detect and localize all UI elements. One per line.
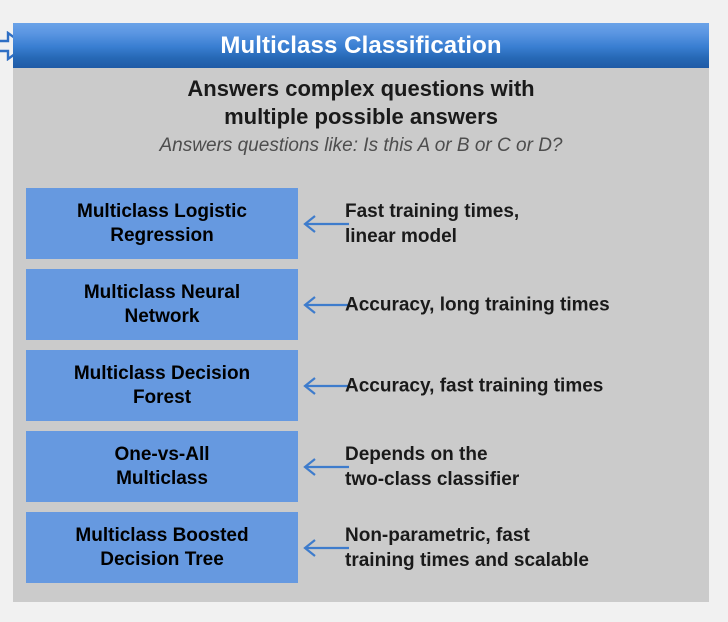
description-line-1: Fast training times, xyxy=(345,201,519,222)
algorithm-box-multiclass-decision-forest[interactable]: Multiclass Decision Forest xyxy=(26,350,298,421)
algorithm-rows: Multiclass Logistic Regression Fast trai… xyxy=(13,188,709,593)
algorithm-description: Fast training times, linear model xyxy=(345,199,701,249)
card-header: Multiclass Classification xyxy=(13,23,709,68)
headline-subtitle: Answers questions like: Is this A or B o… xyxy=(13,134,709,158)
description-line-1: Accuracy, long training times xyxy=(345,294,610,315)
description-line-2: linear model xyxy=(345,226,457,247)
algorithm-name-line-1: Multiclass Decision xyxy=(74,363,250,384)
algorithm-name-line-1: Multiclass Logistic xyxy=(77,201,247,222)
algorithm-name-line-2: Regression xyxy=(110,225,213,246)
algorithm-description: Non-parametric, fast training times and … xyxy=(345,523,701,573)
algorithm-description: Accuracy, fast training times xyxy=(345,373,701,398)
algorithm-name-line-2: Forest xyxy=(133,387,191,408)
page-title: Multiclass Classification xyxy=(220,32,501,60)
algorithm-name-line-2: Decision Tree xyxy=(100,549,224,570)
description-line-1: Accuracy, fast training times xyxy=(345,375,603,396)
algorithm-description: Accuracy, long training times xyxy=(345,292,701,317)
multiclass-classification-card: Multiclass Classification Answers comple… xyxy=(13,23,709,602)
algorithm-row: Multiclass Logistic Regression Fast trai… xyxy=(13,188,709,259)
algorithm-row: Multiclass Neural Network Accuracy, long… xyxy=(13,269,709,340)
headline-line-2: multiple possible answers xyxy=(13,103,709,131)
algorithm-row: Multiclass Boosted Decision Tree Non-par… xyxy=(13,512,709,583)
algorithm-name-line-2: Multiclass xyxy=(116,468,208,489)
arrow-left-icon xyxy=(300,295,350,315)
algorithm-name-line-1: One-vs-All xyxy=(114,444,209,465)
algorithm-name-line-1: Multiclass Neural xyxy=(84,282,240,303)
headline-line-1: Answers complex questions with xyxy=(13,75,709,103)
algorithm-box-one-vs-all-multiclass[interactable]: One-vs-All Multiclass xyxy=(26,431,298,502)
arrow-left-icon xyxy=(300,538,350,558)
algorithm-box-multiclass-boosted-decision-tree[interactable]: Multiclass Boosted Decision Tree xyxy=(26,512,298,583)
algorithm-name-line-2: Network xyxy=(125,306,200,327)
arrow-left-icon xyxy=(300,376,350,396)
algorithm-box-multiclass-logistic-regression[interactable]: Multiclass Logistic Regression xyxy=(26,188,298,259)
algorithm-row: One-vs-All Multiclass Depends on the two… xyxy=(13,431,709,502)
algorithm-row: Multiclass Decision Forest Accuracy, fas… xyxy=(13,350,709,421)
description-line-1: Depends on the xyxy=(345,444,488,465)
headline-block: Answers complex questions with multiple … xyxy=(13,75,709,158)
arrow-left-icon xyxy=(300,457,350,477)
algorithm-box-multiclass-neural-network[interactable]: Multiclass Neural Network xyxy=(26,269,298,340)
description-line-1: Non-parametric, fast xyxy=(345,525,530,546)
arrow-left-icon xyxy=(300,214,350,234)
algorithm-name-line-1: Multiclass Boosted xyxy=(75,525,248,546)
algorithm-description: Depends on the two-class classifier xyxy=(345,442,701,492)
description-line-2: two-class classifier xyxy=(345,469,519,490)
description-line-2: training times and scalable xyxy=(345,550,589,571)
